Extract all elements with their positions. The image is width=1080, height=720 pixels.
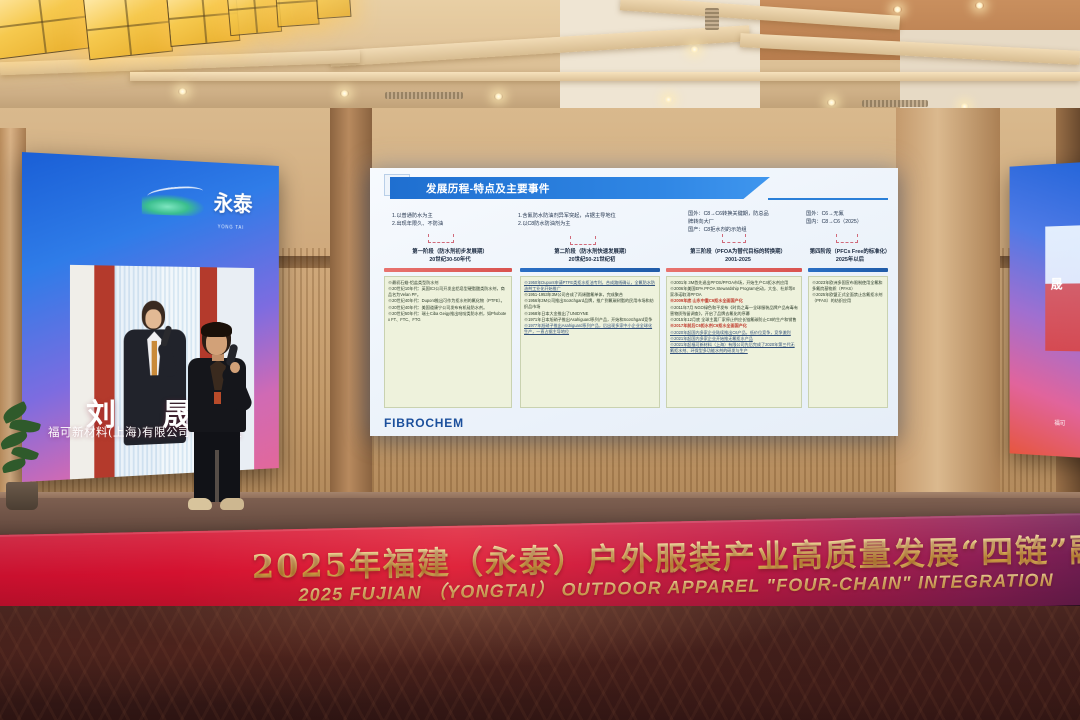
phase-3-line: ※2017年前后C6拒水剂C6拒水全面国产化 [670, 323, 798, 329]
fibrochem-logo-text: FIBROCHEM [384, 416, 464, 430]
phase-1-line: ※20世纪40年代：Dupont推出可作为拒水剂的氟化物（PTFE）。 [388, 298, 508, 304]
recessed-spotlight [827, 99, 836, 106]
ceiling [0, 0, 1080, 118]
pendant-lamp [0, 0, 94, 60]
phase-3-line: ※2015年12月底 全球主要厂家停止供应长链氟碳防止C8的生产和销售 [670, 317, 798, 323]
phase-4-line: ※2025年欧盟正式全面禁止含氟拒水剂（PFAS）的纺织应用 [812, 292, 884, 304]
connector-1 [428, 234, 454, 243]
recessed-spotlight [664, 96, 673, 103]
pendant-lamp [83, 0, 173, 60]
phase-2-line: ※1950年Dupont申请PTFE类拒水拒油专利，合成路线确认，全氟防水防油剂… [524, 280, 656, 292]
yongtai-logo: 永泰 YONG TAI [142, 180, 254, 230]
phase-2-line: ※1971年日本旭硝子推出Asahiguard系列产品，开始和Scotchgar… [524, 317, 656, 323]
phase-2-line: ※1977年旭硝子推出Asahiguard系列产品，后出现多家中小企业全球化生产… [524, 323, 656, 335]
speaker-badge [214, 392, 221, 404]
potted-plant [0, 400, 44, 510]
phase-3-line: ※2020年起国内多家企业陆续推出C6产品，低价位竞争，竞争激烈 [670, 330, 798, 336]
feed-speaker-face [145, 309, 161, 328]
slide-title: 发展历程-特点及主要事件 [426, 181, 550, 196]
phase-bar-4 [808, 268, 888, 272]
phase-note-2: 1.含氟防水防油剂异军突起，占据主导地位 2.以C8防水防油剂为主 [518, 212, 668, 228]
phase-2-line: ※1956年3M公司推出Scotchgard品牌，推广到氟碳树脂的民用市场和纺织… [524, 298, 656, 310]
conference-hall-photo: 永泰 YONG TAI 刘 晟 福可新材料(上海)有限公司 技术总监 发展历程-… [0, 0, 1080, 720]
slide-title-underline [768, 198, 888, 200]
phase-content-box-3: ※2001年 3M首先退出PFOS/PFOA市场，开始生产C4拒水剂应用 ※20… [666, 276, 802, 408]
phase-bar-1 [384, 268, 512, 272]
phase-2-line: ※1968年日本大金推出了UNIDYNE [524, 311, 656, 317]
phase-label-2: 第二阶段（防水剂快速发展期） 20世纪50-21世纪初 [522, 248, 662, 264]
yongtai-logo-text: 永泰 [214, 185, 253, 218]
recessed-spotlight [340, 90, 349, 97]
speaker-hand [230, 362, 240, 373]
yongtai-logo-pinyin: YONG TAI [218, 224, 245, 230]
speaker-shoe-right [220, 498, 244, 510]
phase-3-line: ※2021年起国内多家企业开始推无氟拒水产品 [670, 336, 798, 342]
connector-4 [836, 234, 858, 243]
ceiling-vent [385, 92, 463, 99]
phase-label-3: 第三阶段（PFOA为替代目标的转换期） 2001-2025 [666, 248, 810, 264]
phase-4-line: ※2023年欧洲多国宣布限制使用全氟和多氟烷基物质（PFAS） [812, 280, 884, 292]
phase-note-4: 国外：C6→无氟 国内：C8→C6（2025） [806, 210, 892, 226]
pendant-lamp [226, 0, 282, 36]
carpet-floor [0, 606, 1080, 720]
phase-bar-3 [666, 268, 802, 272]
phase-bar-2 [520, 268, 660, 272]
phase-content-box-4: ※2023年欧洲多国宣布限制使用全氟和多氟烷基物质（PFAS） ※2025年欧盟… [808, 276, 888, 408]
carpet-light-glow [120, 606, 820, 666]
speaker-hair [201, 322, 232, 337]
speaker-leg-gap [215, 450, 219, 502]
plant-pot [6, 482, 38, 510]
phase-label-4: 第四阶段（PFCs Free的标准化） 2025年以后 [804, 248, 896, 264]
connector-2 [570, 236, 596, 245]
pendant-lamp [274, 0, 319, 27]
phase-1-line: ※最初石蜡-铝盐类型防水剂 [388, 280, 508, 286]
phase-1-line: ※20世纪40年代：美国道康宁公司发布有机硅防水剂。 [388, 305, 508, 311]
ceiling-vent [705, 8, 719, 30]
phase-content-box-1: ※最初石蜡-铝盐类型防水剂 ※20世纪10年代：英国ICI公司开发出铝皂型硬脂酸… [384, 276, 512, 408]
slide-title-bar: 发展历程-特点及主要事件 [390, 177, 770, 199]
pendant-lamp [315, 0, 352, 19]
phase-3-line: ※2021年起福可新材料（上海）有限公司先后完成了2020年第三代无氟拒水剂、环… [670, 342, 798, 354]
recessed-spotlight [893, 6, 902, 13]
phase-3-line: ※2006年美国EPA PFOA Stewardship Program启动，大… [670, 286, 798, 298]
speaker-person [168, 322, 264, 514]
recessed-spotlight [690, 46, 699, 53]
ceiling-vent [862, 100, 928, 107]
right-screen-name: 晟 [1051, 279, 1063, 292]
phase-note-1: 1.以普通防水为主 2.出现年限久、不防油 [392, 212, 502, 228]
right-led-screen: 晟 福可 [1010, 160, 1080, 460]
phase-3-line: ※2001年 3M首先退出PFOS/PFOA市场，开始生产C4拒水剂应用 [670, 280, 798, 286]
phase-3-line: ※2011年7月 NGO绿色和平发布《时尚之毒—全球服装品牌产品有毒有害物质残留… [670, 305, 798, 317]
fibrochem-logo: FIBROCHEM [384, 416, 464, 430]
phase-content-box-2: ※1950年Dupont申请PTFE类拒水拒油专利，合成路线确认，全氟防水防油剂… [520, 276, 660, 408]
phase-label-1: 第一阶段（防水剂初步发展期） 20世纪30-50年代 [386, 248, 514, 264]
feed-speaker-tie [152, 341, 157, 376]
wall-column [896, 108, 1000, 508]
recessed-spotlight [178, 88, 187, 95]
phase-3-line: ※2009年底 山东中重C6拒水全面国产化 [670, 298, 798, 304]
speaker-shoe-left [188, 498, 212, 510]
connector-3 [722, 234, 746, 243]
phase-note-3: 国外：C8→C6转换关键期，防总品 牌转向大厂 国产：C8拒水剂的示范组 [688, 210, 796, 234]
right-screen-org: 福可 [1054, 418, 1065, 427]
recessed-spotlight [494, 93, 503, 100]
wall-column [330, 108, 372, 508]
phase-1-line: ※20世纪50年代：瑞士Ciba Geigy推出吡啶类防水剂，如Phobotex… [388, 311, 508, 323]
ceiling-cove [130, 72, 1080, 81]
phase-1-line: ※20世纪10年代：英国ICI公司开发出铝皂型硬脂酸类防水剂，商品名为Velan… [388, 286, 508, 298]
main-presentation-screen: 发展历程-特点及主要事件 1.以普通防水为主 2.出现年限久、不防油 1.含氟防… [370, 168, 898, 436]
recessed-spotlight [975, 2, 984, 9]
